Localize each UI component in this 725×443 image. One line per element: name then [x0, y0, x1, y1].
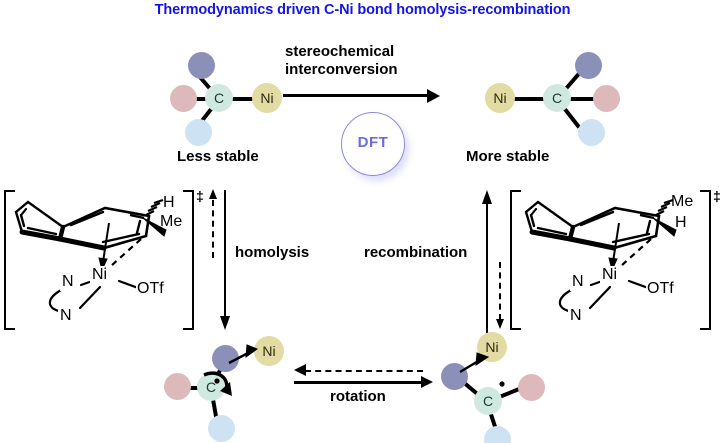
right-ts-ligand-n-bottom: N	[568, 307, 584, 325]
left-ts-counterion-label: OTf	[136, 280, 165, 298]
right-ts-dagger: ‡	[713, 189, 721, 203]
substituent-ball-pink	[170, 85, 197, 112]
bottom-left-radical-group: C Ni	[178, 330, 308, 443]
rotation-step-label: rotation	[330, 389, 386, 405]
substituent-ball-dark-blue	[188, 52, 215, 79]
atom-nickel: Ni	[252, 83, 282, 113]
right-complex-group: Ni C	[449, 46, 609, 151]
homolysis-arrow-head	[220, 316, 230, 330]
homolysis-arrow-shaft	[224, 190, 226, 318]
rotation-reverse-arrow-head	[294, 364, 306, 376]
recombination-arrow-head	[482, 190, 492, 204]
substituent-ball-light-blue	[578, 119, 605, 146]
interconversion-arrow-shaft	[283, 94, 428, 97]
right-caption: More stable	[466, 149, 549, 165]
reaction-scheme-figure: Thermodynamics driven C-Ni bond homolysi…	[0, 0, 725, 443]
interconversion-arrow-head	[427, 89, 440, 103]
right-ts-structure	[518, 190, 703, 332]
left-ts-stereo-lower-label: Me	[160, 213, 182, 230]
left-ts-ligand-n-top: N	[60, 273, 76, 291]
recombination-step-label: recombination	[364, 245, 467, 261]
left-ts-dagger: ‡	[196, 189, 204, 203]
rotation-reverse-dashed-shaft	[305, 370, 423, 372]
radical-dot	[499, 381, 504, 386]
right-ts-counterion-label: OTf	[646, 280, 675, 298]
right-ts-stereo-upper-label: Me	[671, 193, 693, 211]
dft-badge-label: DFT	[341, 134, 405, 151]
right-ts-metal-label: Ni	[600, 266, 619, 284]
right-ts-drawing	[518, 190, 703, 332]
substituent-ball-light-blue	[185, 119, 212, 146]
atom-nickel: Ni	[485, 83, 515, 113]
bottom-right-radical-annotations	[430, 328, 565, 443]
figure-title: Thermodynamics driven C-Ni bond homolysi…	[0, 2, 725, 18]
atom-carbon: C	[205, 84, 233, 112]
homolysis-reverse-dashed-line	[212, 200, 214, 258]
homolysis-step-label: homolysis	[235, 245, 309, 261]
bottom-right-radical-group: C Ni	[430, 328, 565, 443]
left-ts-structure	[8, 190, 188, 332]
homolysis-reverse-arrow-head	[209, 189, 217, 199]
bottom-left-radical-annotations	[178, 330, 308, 443]
arrow-label-line2: interconversion	[285, 62, 398, 78]
atom-carbon: C	[543, 84, 571, 112]
substituent-ball-dark-blue	[575, 52, 602, 79]
rotation-forward-shaft	[294, 381, 422, 384]
arrow-label-line1: stereochemical	[285, 44, 394, 60]
left-ts-stereo-upper-label: H	[163, 194, 175, 211]
left-ts-metal-label: Ni	[90, 266, 109, 284]
left-ts-ligand-n-bottom: N	[58, 307, 74, 325]
recombination-arrow-shaft	[486, 203, 488, 333]
left-caption: Less stable	[177, 149, 259, 165]
substituent-ball-pink	[593, 85, 620, 112]
right-ts-stereo-lower-label: H	[675, 214, 687, 232]
radical-dot	[214, 378, 219, 383]
left-ts-drawing	[8, 190, 188, 332]
recombination-reverse-dashed-line	[499, 262, 501, 320]
right-ts-ligand-n-top: N	[570, 273, 586, 291]
